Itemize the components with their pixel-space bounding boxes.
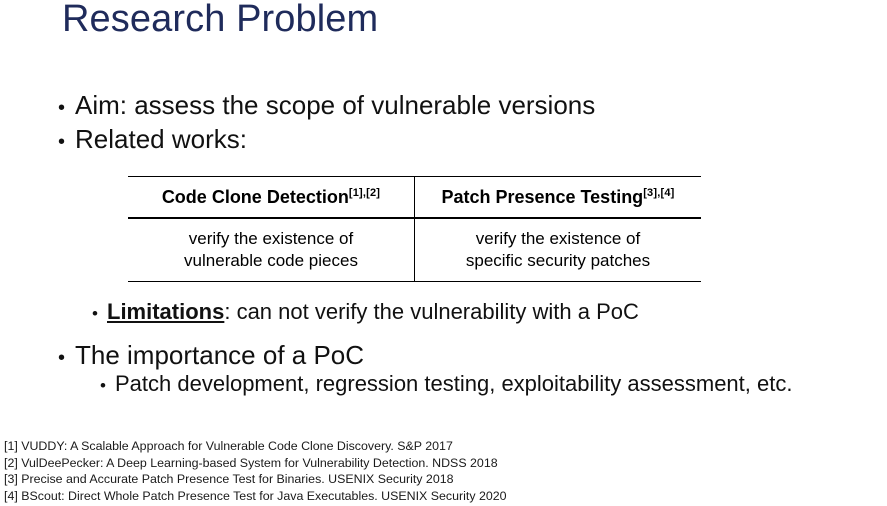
- limitations-rest: : can not verify the vulnerability with …: [224, 299, 639, 324]
- table-cell-code-clone-line-2: vulnerable code pieces: [128, 250, 414, 272]
- bullet-related-works: • Related works:: [58, 124, 247, 155]
- reference-item-4: [4] BScout: Direct Whole Patch Presence …: [4, 488, 507, 505]
- limitations-label: Limitations: [107, 299, 224, 324]
- bullet-dot-icon: •: [58, 98, 75, 118]
- related-works-comparison-table: Code Clone Detection[1],[2] Patch Presen…: [128, 176, 701, 282]
- table-header-patch-presence-testing: Patch Presence Testing[3],[4]: [415, 177, 702, 219]
- bullet-dot-icon: •: [92, 305, 107, 322]
- bullet-patch-development: • Patch development, regression testing,…: [100, 371, 792, 397]
- reference-item-3: [3] Precise and Accurate Patch Presence …: [4, 471, 507, 488]
- page-title: Research Problem: [62, 0, 378, 41]
- table-header-code-clone-detection-label: Code Clone Detection: [162, 187, 349, 207]
- table-cell-patch-presence-description: verify the existence of specific securit…: [415, 218, 702, 282]
- reference-list: [1] VUDDY: A Scalable Approach for Vulne…: [4, 438, 507, 504]
- bullet-patch-development-text: Patch development, regression testing, e…: [115, 371, 792, 397]
- table-cell-patch-presence-line-1: verify the existence of: [415, 228, 701, 250]
- reference-item-2: [2] VulDeePecker: A Deep Learning-based …: [4, 455, 507, 472]
- bullet-dot-icon: •: [100, 377, 115, 394]
- slide-canvas: Research Problem • Aim: assess the scope…: [0, 0, 887, 506]
- table-header-code-clone-detection-citation: [1],[2]: [349, 187, 380, 199]
- table-header-code-clone-detection: Code Clone Detection[1],[2]: [128, 177, 415, 219]
- reference-item-1: [1] VUDDY: A Scalable Approach for Vulne…: [4, 438, 507, 455]
- table-cell-code-clone-description: verify the existence of vulnerable code …: [128, 218, 415, 282]
- table-cell-patch-presence-line-2: specific security patches: [415, 250, 701, 272]
- bullet-limitations: • Limitations: can not verify the vulner…: [92, 299, 639, 325]
- table-row: verify the existence of vulnerable code …: [128, 218, 701, 282]
- bullet-aim-text: Aim: assess the scope of vulnerable vers…: [75, 90, 595, 121]
- bullet-limitations-text: Limitations: can not verify the vulnerab…: [107, 299, 639, 325]
- bullet-related-works-text: Related works:: [75, 124, 247, 155]
- bullet-importance-of-poc: • The importance of a PoC: [58, 340, 364, 371]
- bullet-dot-icon: •: [58, 348, 75, 368]
- bullet-aim: • Aim: assess the scope of vulnerable ve…: [58, 90, 595, 121]
- table-cell-code-clone-line-1: verify the existence of: [128, 228, 414, 250]
- table-header-row: Code Clone Detection[1],[2] Patch Presen…: [128, 177, 701, 219]
- bullet-importance-of-poc-text: The importance of a PoC: [75, 340, 364, 371]
- table-header-patch-presence-testing-label: Patch Presence Testing: [441, 187, 643, 207]
- table-header-patch-presence-testing-citation: [3],[4]: [643, 187, 674, 199]
- bullet-dot-icon: •: [58, 132, 75, 152]
